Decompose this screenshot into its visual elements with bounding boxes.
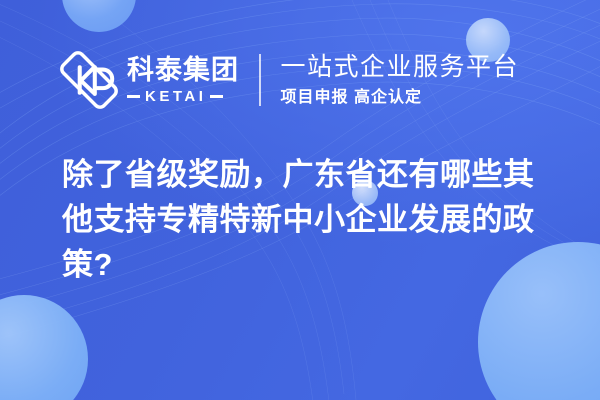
logo-dash-left-icon <box>127 95 140 98</box>
logo-wordmark: 科泰集团 KETAI <box>127 56 239 103</box>
tagline-main: 一站式企业服务平台 <box>281 53 520 82</box>
ketai-diamond-monogram-icon <box>60 51 118 109</box>
logo-dash-right-icon <box>210 95 223 98</box>
brand-logo[interactable]: 科泰集团 KETAI <box>60 51 239 109</box>
header-divider <box>259 54 261 106</box>
logo-name-cn: 科泰集团 <box>127 56 239 84</box>
tagline-sub: 项目申报 高企认定 <box>281 88 520 107</box>
header-tagline: 一站式企业服务平台 项目申报 高企认定 <box>281 53 520 107</box>
page-title: 除了省级奖励，广东省还有哪些其他支持专精特新中小企业发展的政策? <box>62 152 562 287</box>
logo-name-en-row: KETAI <box>127 89 239 104</box>
banner-header: 科泰集团 KETAI 一站式企业服务平台 项目申报 高企认定 <box>60 44 519 116</box>
logo-name-en: KETAI <box>145 89 206 104</box>
promo-banner: 科泰集团 KETAI 一站式企业服务平台 项目申报 高企认定 除了省级奖励，广东… <box>0 0 600 400</box>
